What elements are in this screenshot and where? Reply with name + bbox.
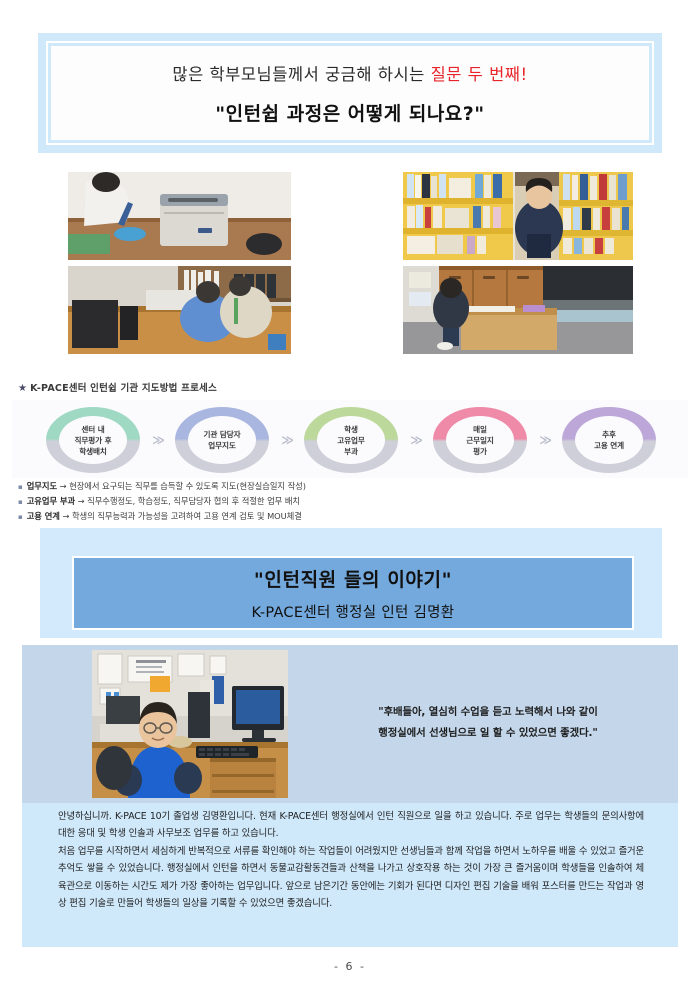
intern-story-paragraph-2: 처음 업무를 시작하면서 세심하게 반복적으로 서류를 확인해야 하는 작업들이… (58, 843, 644, 913)
intern-profile-photo (92, 650, 288, 798)
star-icon: ★ (18, 383, 27, 394)
photo-desk-paperwork (403, 266, 633, 354)
process-steps: 센터 내직무평가 후학생배치 ≫ 기관 담당자업무지도 ≫ 학생고유업무부과 ≫… (46, 404, 656, 476)
process-bullet-2-term: 고유업무 부과 (27, 496, 75, 506)
page-number: - 6 - (0, 960, 700, 973)
bullet-dot-icon: ▪ (18, 483, 23, 491)
question-accent-text: 질문 두 번째! (431, 65, 528, 84)
bullet-dot-icon: ▪ (18, 498, 23, 506)
newsletter-page: 많은 학부모님들께서 궁금해 하시는 질문 두 번째! "인턴쉽 과정은 어떻게… (0, 0, 700, 991)
process-bullet-1-term: 업무지도 (27, 481, 57, 491)
process-bullet-3: ▪고용 연계 → 학생의 직무능력과 가능성을 고려하여 고용 연계 검토 및 … (18, 509, 578, 524)
process-arrow-3: ≫ (407, 433, 425, 447)
process-step-4-label: 매일근무일지평가 (466, 424, 494, 457)
process-step-3-label: 학생고유업무부과 (337, 424, 365, 457)
process-bullet-2: ▪고유업무 부과 → 직무수행정도, 학습정도, 직무담당자 협의 후 적절한 … (18, 494, 578, 509)
process-bullets: ▪업무지도 → 현장에서 요구되는 직무를 습득할 수 있도록 지도(현장실습일… (18, 479, 578, 525)
photo-grid (68, 172, 633, 360)
process-heading: ★K-PACE센터 인턴쉽 기관 지도방법 프로세스 (18, 380, 217, 394)
intern-quote-line-1: "후배들아, 열심히 수업을 듣고 노력해서 나와 같이 (318, 702, 658, 723)
banner-subtitle: K-PACE센터 행정실 인턴 김명환 (252, 601, 455, 622)
process-bullet-3-desc: → 학생의 직무능력과 가능성을 고려하여 고용 연계 검토 및 MOU체결 (60, 511, 302, 521)
question-panel-border: 많은 학부모님들께서 궁금해 하시는 질문 두 번째! "인턴쉽 과정은 어떻게… (46, 41, 654, 145)
process-bullet-2-desc: → 직무수행정도, 학습정도, 직무담당자 협의 후 적절한 업무 배치 (75, 496, 300, 506)
question-panel-content: 많은 학부모님들께서 궁금해 하시는 질문 두 번째! "인턴쉽 과정은 어떻게… (51, 46, 649, 140)
process-heading-text: K-PACE센터 인턴쉽 기관 지도방법 프로세스 (30, 383, 217, 394)
process-step-1-label: 센터 내직무평가 후학생배치 (75, 424, 112, 457)
process-arrow-1: ≫ (149, 433, 167, 447)
process-arrow-2: ≫ (278, 433, 296, 447)
question-intro-text: 많은 학부모님들께서 궁금해 하시는 (172, 65, 430, 84)
process-arrow-4: ≫ (536, 433, 554, 447)
process-step-2: 기관 담당자업무지도 (175, 407, 269, 473)
question-title: "인턴쉽 과정은 어떻게 되나요?" (215, 99, 484, 126)
photo-office-computer-guidance (68, 266, 291, 354)
question-panel: 많은 학부모님들께서 궁금해 하시는 질문 두 번째! "인턴쉽 과정은 어떻게… (38, 33, 662, 153)
process-step-1: 센터 내직무평가 후학생배치 (46, 407, 140, 473)
photo-shredder-cleaning (68, 172, 291, 260)
banner-title: "인턴직원 들의 이야기" (254, 565, 452, 592)
question-intro-line: 많은 학부모님들께서 궁금해 하시는 질문 두 번째! (172, 61, 527, 85)
process-bullet-1: ▪업무지도 → 현장에서 요구되는 직무를 습득할 수 있도록 지도(현장실습일… (18, 479, 578, 494)
process-step-2-label: 기관 담당자업무지도 (204, 429, 241, 451)
process-step-3: 학생고유업무부과 (304, 407, 398, 473)
intern-quote: "후배들아, 열심히 수업을 듣고 노력해서 나와 같이 행정실에서 선생님으로… (318, 702, 658, 744)
process-step-5: 추후고용 연계 (562, 407, 656, 473)
process-step-4: 매일근무일지평가 (433, 407, 527, 473)
bullet-dot-icon: ▪ (18, 513, 23, 521)
process-step-5-label: 추후고용 연계 (594, 429, 624, 451)
process-bullet-3-term: 고용 연계 (27, 511, 60, 521)
process-bullet-1-desc: → 현장에서 요구되는 직무를 습득할 수 있도록 지도(현장실습일지 작성) (57, 481, 306, 491)
photo-library-bookshelf (403, 172, 633, 260)
intern-story-banner: "인턴직원 들의 이야기" K-PACE센터 행정실 인턴 김명환 (72, 556, 634, 630)
intern-story-text: 안녕하십니까. K-PACE 10기 졸업생 김명환입니다. 현재 K-PACE… (58, 808, 644, 912)
intern-quote-line-2: 행정실에서 선생님으로 일 할 수 있었으면 좋겠다." (318, 723, 658, 744)
intern-story-paragraph-1: 안녕하십니까. K-PACE 10기 졸업생 김명환입니다. 현재 K-PACE… (58, 808, 644, 843)
